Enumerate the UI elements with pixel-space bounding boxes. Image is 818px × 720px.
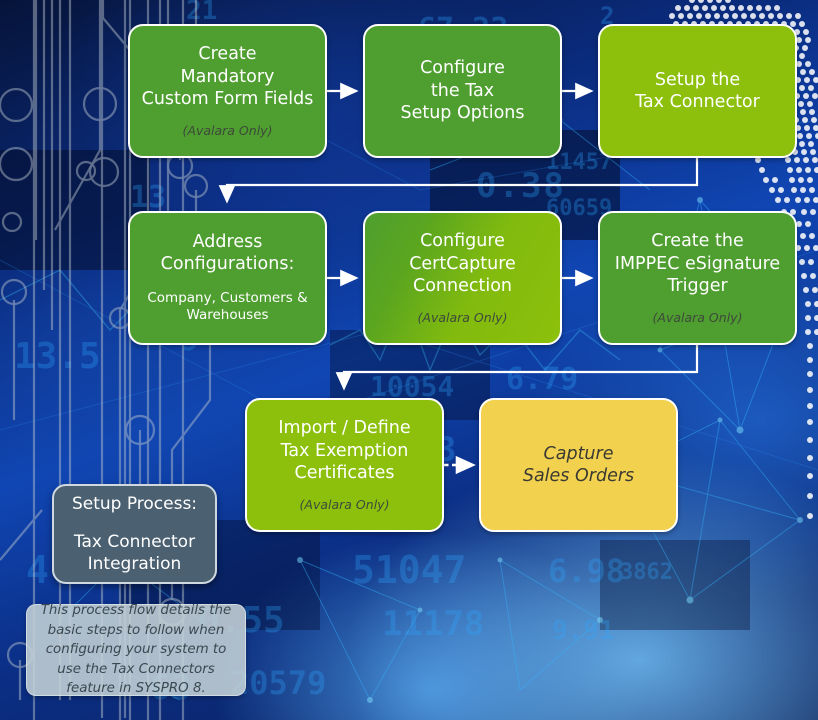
node-subtitle: (Avalara Only): [300, 497, 390, 513]
node-title: Configure CertCapture Connection: [401, 230, 524, 297]
node-line-1: Capture: [544, 444, 614, 464]
node-title: Create Mandatory Custom Form Fields: [134, 43, 322, 110]
node-line-3: Trigger: [667, 276, 727, 296]
node-configure-the-tax-setup-options[interactable]: Configure the Tax Setup Options: [363, 24, 562, 158]
node-line-2: Mandatory: [181, 67, 275, 87]
node-line-1: Import / Define: [278, 418, 410, 438]
node-address-configurations[interactable]: Address Configurations: Company, Custome…: [128, 211, 327, 345]
node-detail: Company, Customers & Warehouses: [138, 290, 318, 325]
node-subtitle: (Avalara Only): [653, 310, 743, 326]
node-line-3: Certificates: [294, 463, 394, 483]
node-line-3: Setup Options: [400, 103, 524, 123]
node-line-2: Tax Exemption: [281, 441, 409, 461]
node-line-2: Tax Connector: [635, 92, 760, 112]
node-configure-certcapture-connection[interactable]: Configure CertCapture Connection (Avalar…: [363, 211, 562, 345]
node-line-1: Address: [193, 232, 263, 252]
node-title: Configure the Tax Setup Options: [392, 57, 532, 124]
diagram-canvas: 21 67 23 2 0.38 11457 60659 13.5 13 9 10…: [0, 0, 818, 720]
node-subtitle: (Avalara Only): [183, 123, 273, 139]
node-title: Capture Sales Orders: [515, 443, 642, 488]
legend-line-1: Setup Process:: [72, 493, 197, 515]
node-capture-sales-orders[interactable]: Capture Sales Orders: [479, 398, 678, 532]
node-line-1: Configure: [420, 231, 505, 251]
node-title: Setup the Tax Connector: [627, 69, 768, 114]
node-line-1: Setup the: [655, 70, 740, 90]
node-setup-the-tax-connector[interactable]: Setup the Tax Connector: [598, 24, 797, 158]
node-subtitle: (Avalara Only): [418, 310, 508, 326]
node-line-1: Create: [198, 44, 256, 64]
node-line-3: Custom Form Fields: [142, 89, 314, 109]
node-title: Create the IMPPEC eSignature Trigger: [607, 230, 788, 297]
note-process-description: This process flow details the basic step…: [26, 604, 246, 696]
legend-line-2a: Tax Connector: [74, 532, 195, 552]
node-line-2: IMPPEC eSignature: [615, 254, 780, 274]
node-line-2: CertCapture: [409, 254, 516, 274]
node-line-1: Configure: [420, 58, 505, 78]
node-create-the-imppec-esignature-trigger[interactable]: Create the IMPPEC eSignature Trigger (Av…: [598, 211, 797, 345]
node-title: Address Configurations:: [153, 231, 303, 276]
note-text: This process flow details the basic step…: [39, 601, 233, 698]
node-line-2: Configurations:: [161, 254, 295, 274]
node-create-mandatory-custom-form-fields[interactable]: Create Mandatory Custom Form Fields (Ava…: [128, 24, 327, 158]
legend-setup-process: Setup Process: Tax Connector Integration: [52, 484, 217, 584]
node-import-define-tax-exemption-certificates[interactable]: Import / Define Tax Exemption Certificat…: [245, 398, 444, 532]
node-line-3: Connection: [413, 276, 512, 296]
node-line-2: the Tax: [431, 81, 494, 101]
legend-line-2: Tax Connector Integration: [74, 531, 195, 575]
node-line-2: Sales Orders: [523, 466, 634, 486]
node-title: Import / Define Tax Exemption Certificat…: [270, 417, 418, 484]
node-line-1: Create the: [651, 231, 743, 251]
legend-line-2b: Integration: [88, 554, 182, 574]
